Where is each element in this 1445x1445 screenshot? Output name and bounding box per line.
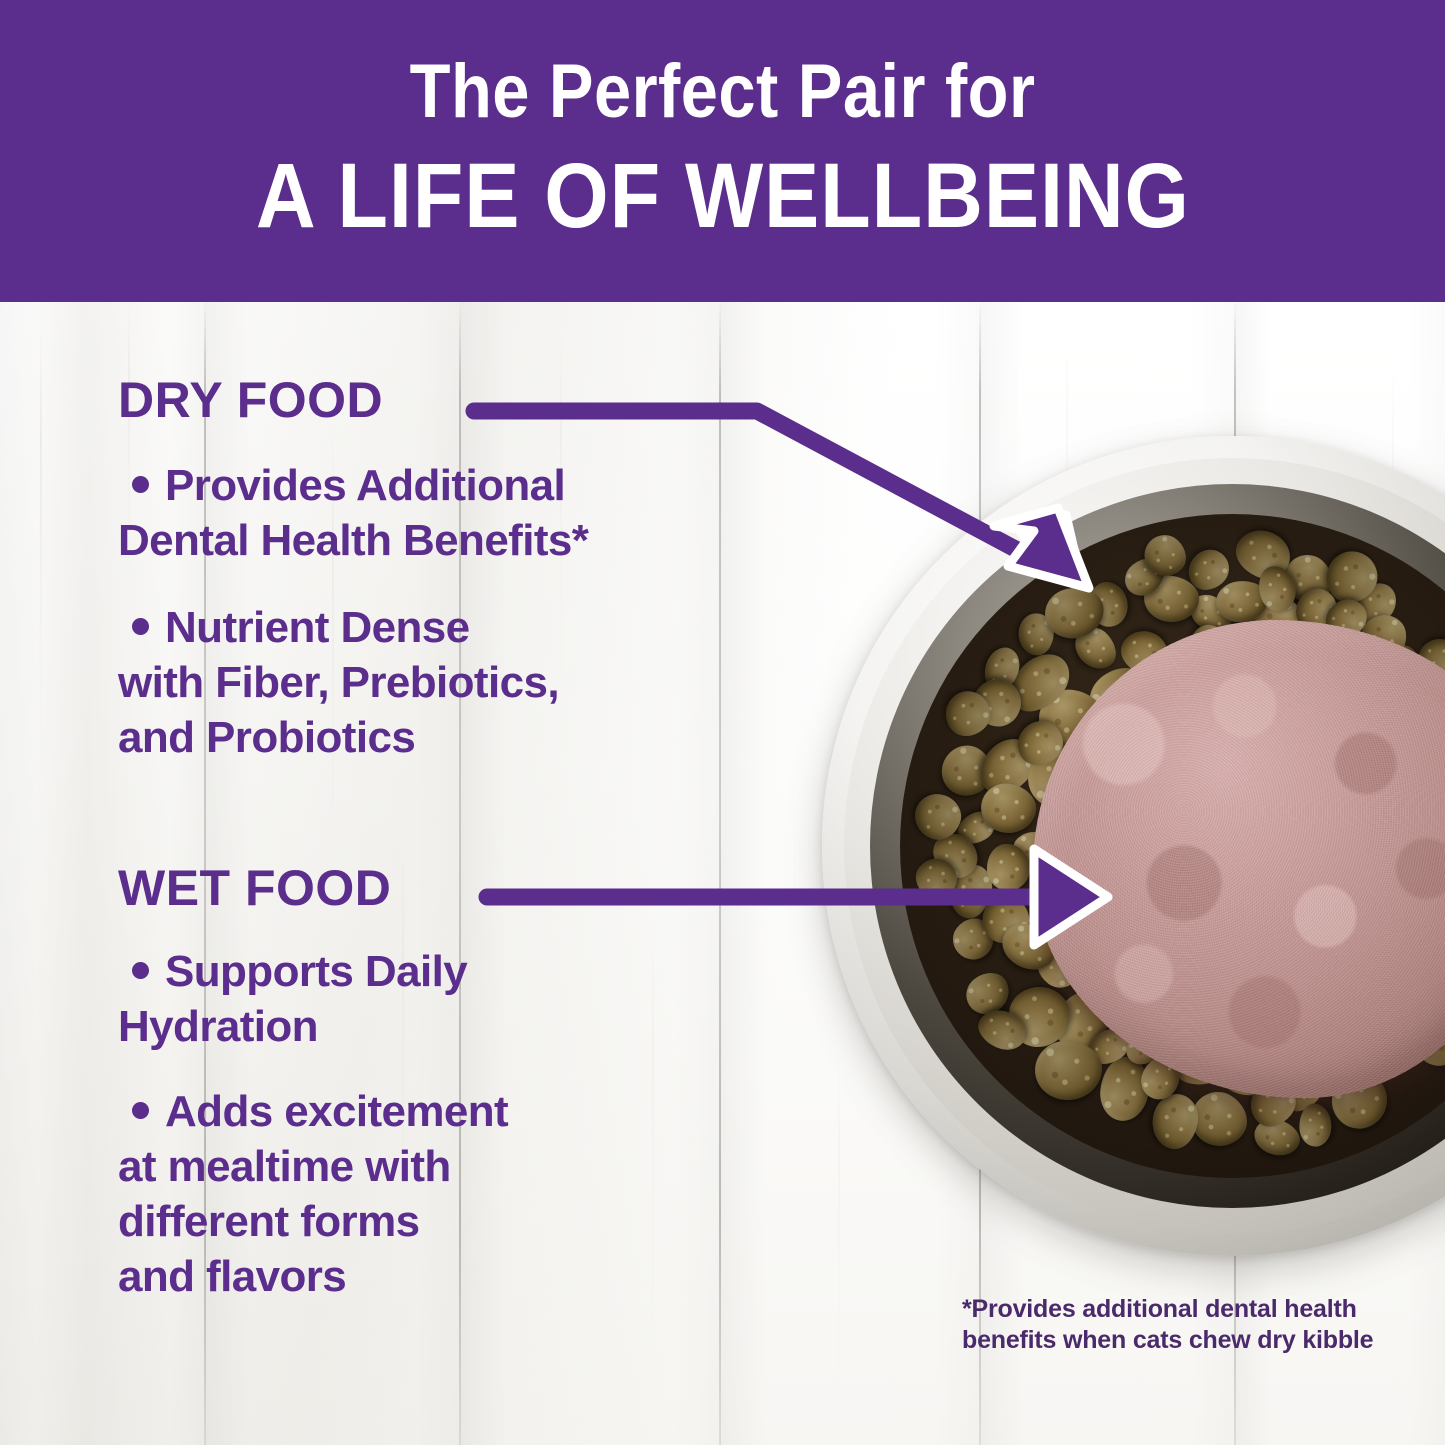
bullet-dry-1-line2: Dental Health Benefits* [118, 516, 588, 565]
footnote-disclaimer: *Provides additional dental health benef… [962, 1294, 1382, 1356]
bullet-dot-icon [132, 476, 149, 493]
bullet-dot-icon [132, 1102, 149, 1119]
plank-seam [1234, 302, 1236, 1445]
bullet-wet-1: Supports Daily Hydration [118, 944, 818, 1054]
section-heading-dry-food: DRY FOOD [118, 372, 383, 428]
bullet-wet-2-line4: and flavors [118, 1252, 346, 1301]
bullet-dot-icon [132, 962, 149, 979]
bullet-dry-1: Provides Additional Dental Health Benefi… [118, 458, 818, 568]
product-benefits-poster: The Perfect Pair for A LIFE OF WELLBEING… [0, 0, 1445, 1445]
footnote-line1: *Provides additional dental health [962, 1295, 1357, 1323]
bullet-dry-2-line3: and Probiotics [118, 713, 415, 762]
bullet-wet-2-line1: Adds excitement [165, 1087, 508, 1136]
bullet-dry-2-line1: Nutrient Dense [165, 603, 470, 652]
footnote-line2: benefits when cats chew dry kibble [962, 1326, 1373, 1354]
bullet-dry-2: Nutrient Dense with Fiber, Prebiotics, a… [118, 600, 818, 765]
plank-seam [979, 302, 981, 1445]
banner-headline-line2: A LIFE OF WELLBEING [256, 148, 1190, 244]
bullet-wet-2-line3: different forms [118, 1197, 419, 1246]
section-heading-wet-food: WET FOOD [118, 860, 391, 916]
bullet-wet-2: Adds excitement at mealtime with differe… [118, 1084, 818, 1304]
bullet-wet-2-line2: at mealtime with [118, 1142, 451, 1191]
bullet-dot-icon [132, 618, 149, 635]
header-banner: The Perfect Pair for A LIFE OF WELLBEING [0, 0, 1445, 302]
bullet-wet-1-line2: Hydration [118, 1002, 318, 1051]
bullet-wet-1-line1: Supports Daily [165, 947, 467, 996]
banner-headline-line1: The Perfect Pair for [410, 50, 1036, 134]
bullet-dry-2-line2: with Fiber, Prebiotics, [118, 658, 559, 707]
bullet-dry-1-line1: Provides Additional [165, 461, 565, 510]
